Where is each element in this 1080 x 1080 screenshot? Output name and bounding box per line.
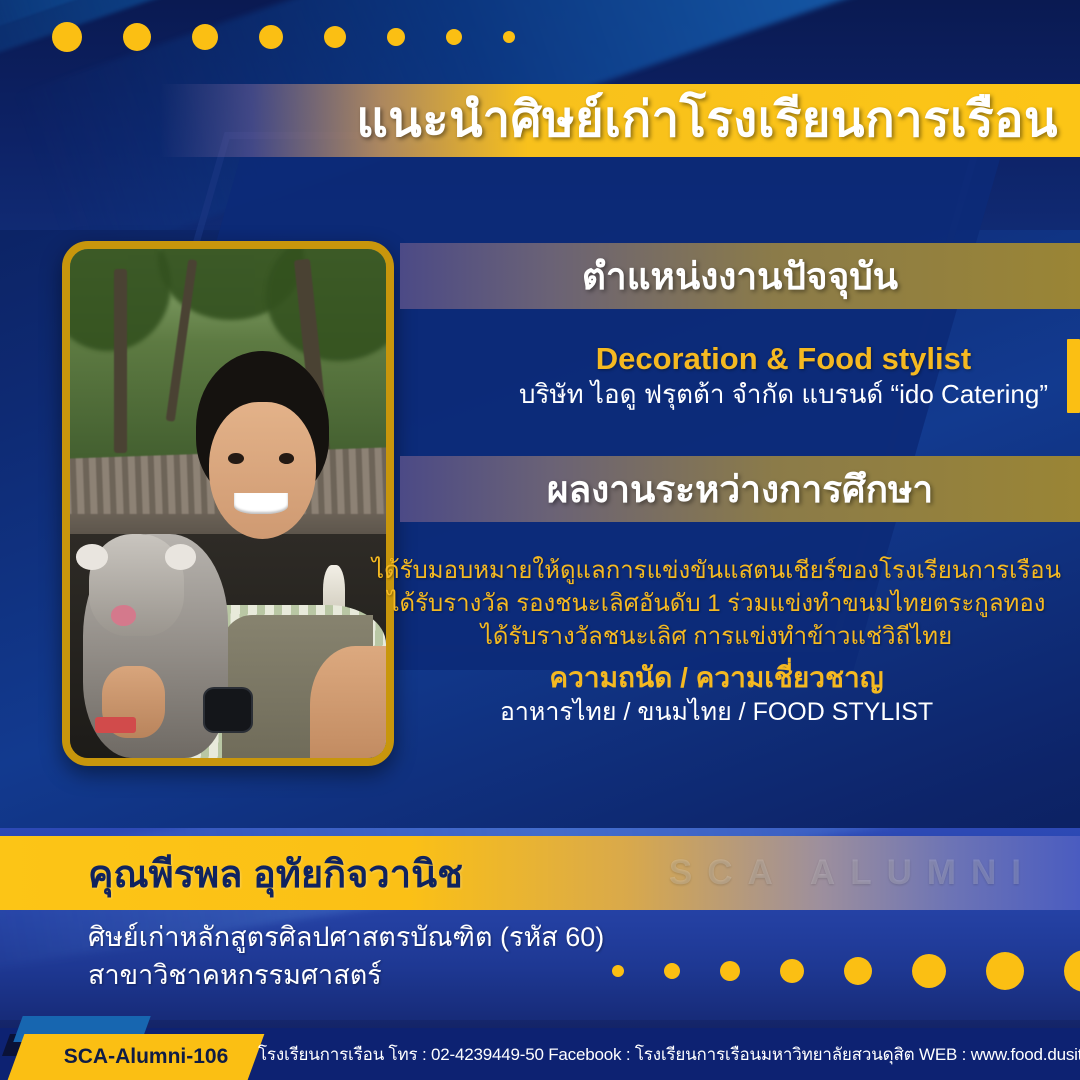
page-title: แนะนำศิษย์เก่าโรงเรียนการเรือน xyxy=(356,96,1058,145)
job-title: Decoration & Food stylist xyxy=(519,341,1048,378)
badge-label: SCA-Alumni-106 xyxy=(46,1034,246,1080)
photo-trunk-1 xyxy=(114,269,127,452)
photo-smile xyxy=(234,493,288,513)
dot-bottom-7 xyxy=(986,952,1024,990)
dot-top-8 xyxy=(503,31,515,43)
current-position-block: Decoration & Food stylist บริษัท ไอดู ฟร… xyxy=(400,330,1080,422)
alumni-photo xyxy=(70,249,386,758)
decorative-dots-top xyxy=(52,22,515,52)
achievement-item: ได้รับรางวัลชนะเลิศ การแข่งทำข้าวแช่วิถี… xyxy=(372,620,1061,653)
dot-bottom-6 xyxy=(912,954,946,988)
current-position-text: Decoration & Food stylist บริษัท ไอดู ฟร… xyxy=(519,341,1048,410)
job-company: บริษัท ไอดู ฟรุตต้า จำกัด แบรนด์ “ido Ca… xyxy=(519,378,1048,411)
photo-eye-right xyxy=(279,453,295,464)
dot-top-3 xyxy=(192,24,218,50)
dot-top-1 xyxy=(52,22,82,52)
skills-heading: ความถนัด / ความเชี่ยวชาญ xyxy=(372,659,1061,697)
section-title: ผลงานระหว่างการศึกษา xyxy=(547,460,933,519)
dot-top-2 xyxy=(123,23,151,51)
alumni-photo-frame xyxy=(62,241,394,766)
dot-bottom-4 xyxy=(780,959,804,983)
photo-goat-mouth xyxy=(111,605,136,625)
degree-line-1: ศิษย์เก่าหลักสูตรศิลปศาสตรบัณฑิต (รหัส 6… xyxy=(88,918,648,956)
degree-line-2: สาขาวิชาคหกรรมศาสตร์ xyxy=(88,956,648,994)
dot-bottom-5 xyxy=(844,957,872,985)
dot-bottom-1 xyxy=(612,965,624,977)
photo-face xyxy=(209,402,316,539)
alumni-name: คุณพีรพล อุทัยกิจวานิช xyxy=(88,843,463,904)
achievements-text: ได้รับมอบหมายให้ดูแลการแข่งขันแสตนเชียร์… xyxy=(372,554,1061,728)
achievement-item: ได้รับรางวัล รองชนะเลิศอันดับ 1 ร่วมแข่ง… xyxy=(372,587,1061,620)
achievements-block: ได้รับมอบหมายให้ดูแลการแข่งขันแสตนเชียร์… xyxy=(400,548,1080,734)
dot-top-6 xyxy=(387,28,405,46)
dot-bottom-3 xyxy=(720,961,740,981)
photo-goat-ear-left xyxy=(76,544,108,569)
photo-watch xyxy=(203,687,254,733)
photo-goat-ear-right xyxy=(165,544,197,569)
photo-wristband xyxy=(95,717,136,732)
dot-bottom-2 xyxy=(664,963,680,979)
achievement-item: ได้รับมอบหมายให้ดูแลการแข่งขันแสตนเชียร์… xyxy=(372,554,1061,587)
gold-accent-bar-1 xyxy=(1067,339,1080,413)
alumni-degree: ศิษย์เก่าหลักสูตรศิลปศาสตรบัณฑิต (รหัส 6… xyxy=(88,918,648,995)
dot-top-7 xyxy=(446,29,462,45)
alumni-name-bar: คุณพีรพล อุทัยกิจวานิช xyxy=(0,836,1080,910)
section-heading-current-position: ตำแหน่งงานปัจจุบัน xyxy=(400,243,1080,309)
alumni-poster: แนะนำศิษย์เก่าโรงเรียนการเรือน xyxy=(0,0,1080,1080)
dot-top-5 xyxy=(324,26,346,48)
dot-top-4 xyxy=(259,25,283,49)
decorative-dots-bottom xyxy=(612,946,1080,996)
footer-contact-info: โรงเรียนการเรือน โทร : 02-4239449-50 Fac… xyxy=(258,1028,1066,1080)
dot-bottom-8 xyxy=(1064,950,1080,992)
photo-eye-left xyxy=(228,453,244,464)
skills-value: อาหารไทย / ขนมไทย / FOOD STYLIST xyxy=(372,697,1061,728)
section-heading-achievements: ผลงานระหว่างการศึกษา xyxy=(400,456,1080,522)
section-title: ตำแหน่งงานปัจจุบัน xyxy=(582,247,898,306)
title-banner: แนะนำศิษย์เก่าโรงเรียนการเรือน xyxy=(160,84,1080,157)
